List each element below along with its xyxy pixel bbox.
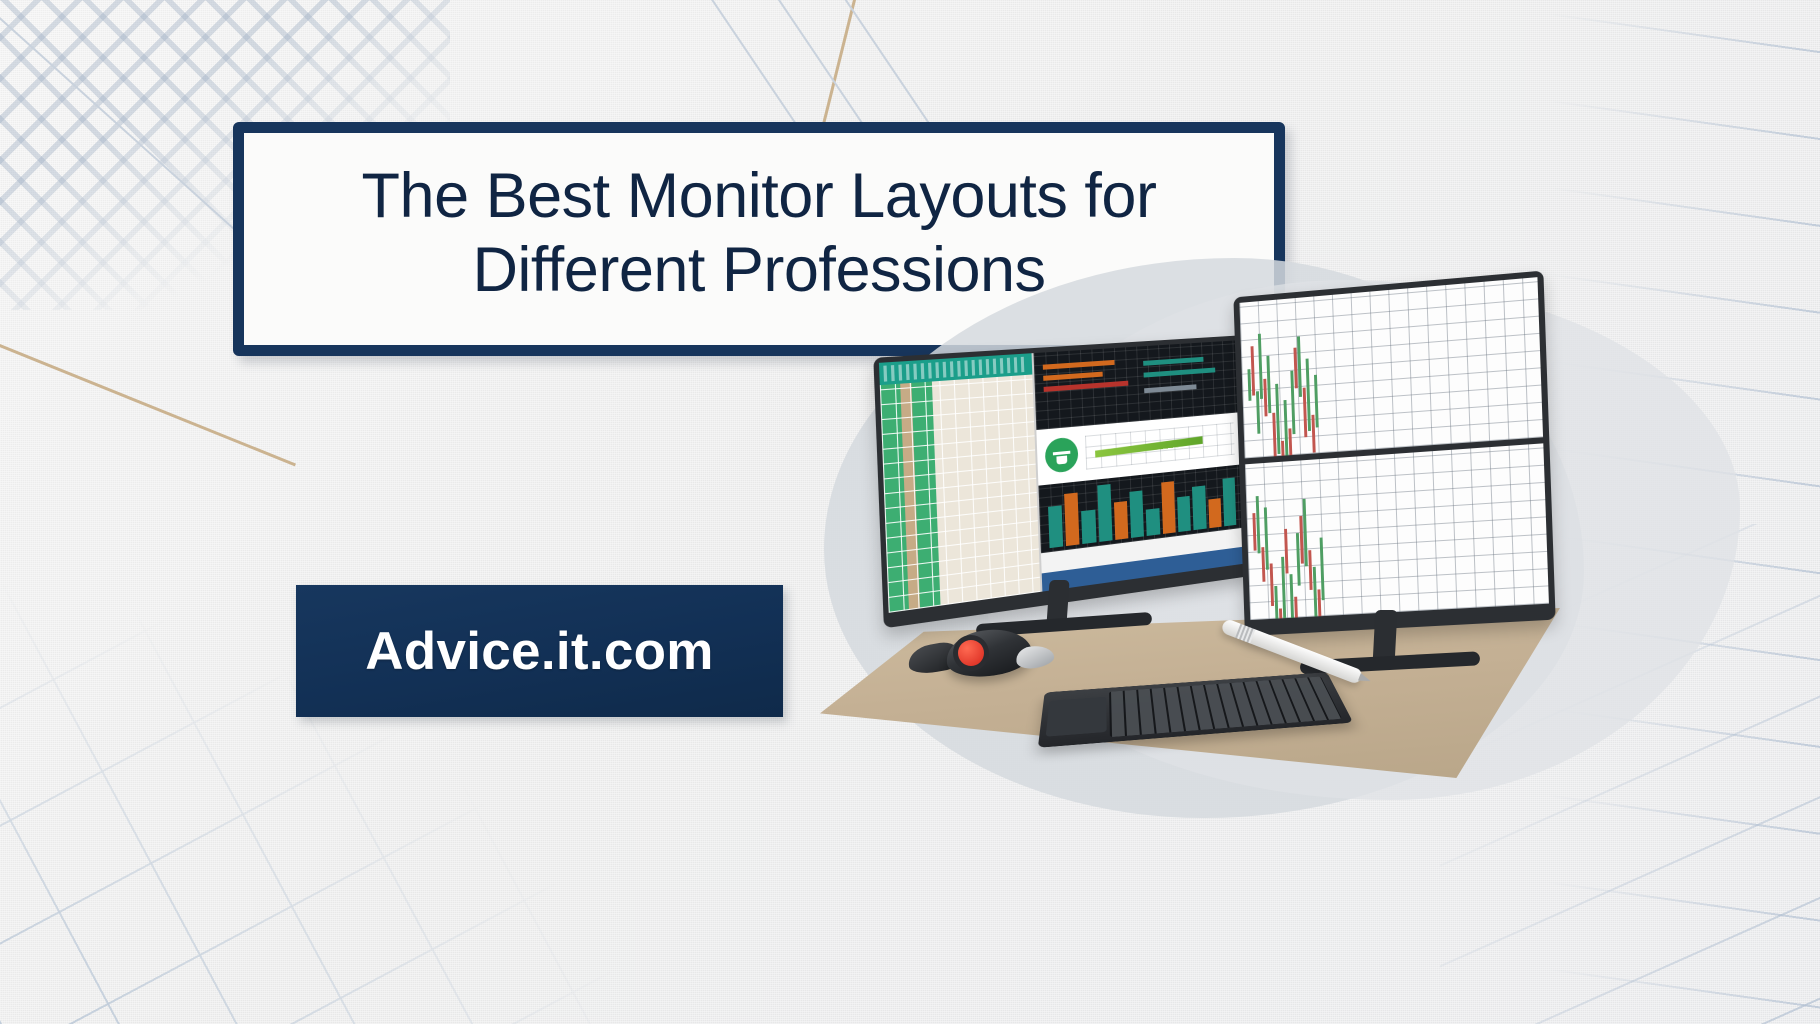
spreadsheet-grid xyxy=(880,375,1041,613)
mini-chart-graphic xyxy=(1085,423,1235,470)
brand-badge[interactable]: Advice.it.com xyxy=(296,585,783,717)
candles-top xyxy=(1246,294,1537,443)
keyboard-palm-rest xyxy=(1046,697,1107,736)
poster-canvas: The Best Monitor Layouts for Different P… xyxy=(0,0,1820,1024)
desk-scene xyxy=(800,240,1820,1024)
candlestick-chart-bottom xyxy=(1245,443,1549,620)
brand-badge-label: Advice.it.com xyxy=(365,621,714,682)
candlestick-chart-top xyxy=(1239,277,1543,458)
pane-spreadsheet xyxy=(879,353,1042,613)
left-monitor-screen xyxy=(879,340,1245,613)
pane-group-market xyxy=(1033,340,1245,591)
right-monitor xyxy=(1233,271,1555,637)
mouse-scroll-button xyxy=(958,640,984,666)
candles-bottom xyxy=(1251,460,1542,604)
lattice-decoration xyxy=(0,504,620,1024)
page-title-line-1: The Best Monitor Layouts for xyxy=(266,160,1252,234)
right-monitor-screen xyxy=(1239,277,1549,620)
broker-logo-icon xyxy=(1045,437,1079,474)
